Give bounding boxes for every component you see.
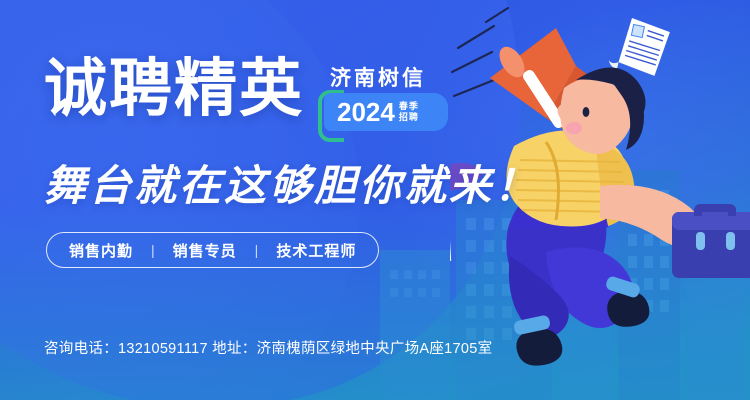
company-name: 济南树信 <box>330 62 426 92</box>
page-title: 诚聘精英 <box>44 58 304 121</box>
badge-year: 2024 <box>337 99 395 125</box>
job-title-1: 销售内勤 <box>69 240 133 261</box>
badge-season-line1: 春季 <box>399 101 419 112</box>
year-badge: 济南树信 2024 春季 招聘 <box>318 62 450 140</box>
job-positions-pill: 销售内勤 | 销售专员 | 技术工程师 <box>46 232 379 268</box>
badge-pill: 2024 春季 招聘 <box>324 93 448 131</box>
badge-season-line2: 招聘 <box>399 112 419 123</box>
banner-text-content: 诚聘精英 济南树信 2024 春季 招聘 舞台就在这够胆你就来！ 销售内勤 | … <box>0 0 560 400</box>
job-separator-1: | <box>151 242 155 258</box>
badge-season: 春季 招聘 <box>399 101 419 123</box>
subtitle: 舞台就在这够胆你就来！ <box>44 152 539 213</box>
briefcase-icon <box>672 204 750 278</box>
recruitment-banner: 诚聘精英 济南树信 2024 春季 招聘 舞台就在这够胆你就来！ 销售内勤 | … <box>0 0 750 400</box>
job-title-3: 技术工程师 <box>276 240 356 261</box>
job-title-2: 销售专员 <box>173 240 237 261</box>
job-separator-2: | <box>255 242 259 258</box>
contact-line: 咨询电话：13210591117 地址：济南槐荫区绿地中央广场A座1705室 <box>44 337 492 358</box>
headline-row: 诚聘精英 济南树信 2024 春季 招聘 <box>44 58 450 140</box>
